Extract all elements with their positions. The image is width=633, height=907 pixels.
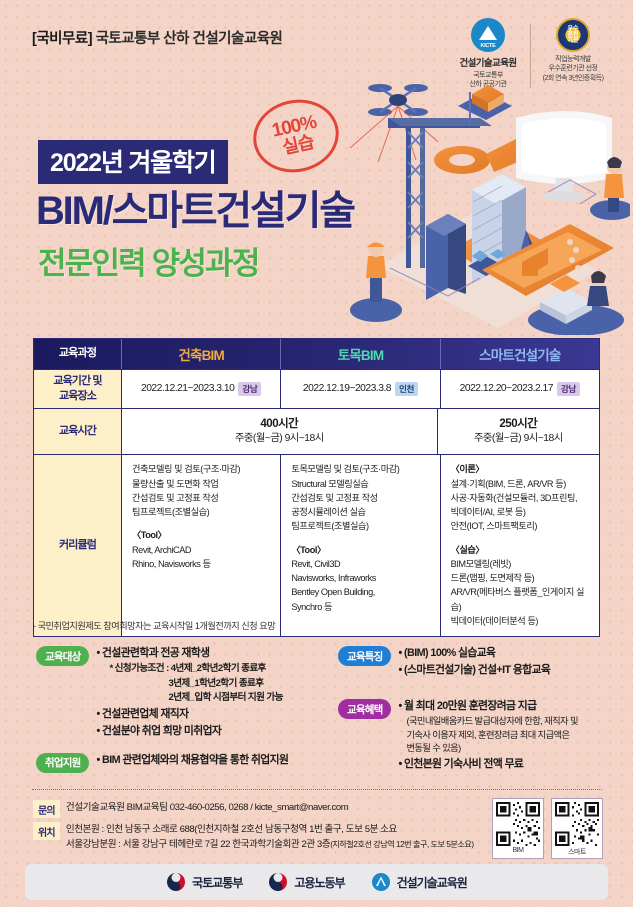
education-features-body: (BIM) 100% 실습교육 (스마트건설기술) 건설+IT 융합교육 bbox=[398, 645, 550, 678]
hours-total-smart: 250시간 bbox=[499, 416, 537, 433]
info-column-left: 교육대상 건설관련학과 전공 재학생 신청가능조건 : 4년제_2학년2학기 종… bbox=[36, 645, 336, 779]
table-col-smart-const: 스마트건설기술 bbox=[441, 339, 599, 369]
location-gangnam: 서울강남분원 : 서울 강남구 테헤란로 7길 22 한국과학기술회관 2관 3… bbox=[66, 839, 330, 850]
target-line-4: 건설관련업체 재직자 bbox=[96, 706, 282, 723]
education-benefits-body: 월 최대 20만원 훈련장려금 지급 (국민내일배움카드 발급대상자에 한함, … bbox=[398, 698, 577, 772]
qr-bim-label: BIM bbox=[496, 846, 540, 854]
hours-cell-smart: 250시간 주중(월~금) 9시~18시 bbox=[438, 409, 599, 455]
period-text-arch: 2022.12.21~2023.3.10 bbox=[141, 383, 234, 394]
pallet-box-icon bbox=[458, 85, 512, 120]
cur-smart-item-1: 사공·자동화(건설모듈러, 3D프린팅, bbox=[451, 491, 594, 505]
info-block-target: 교육대상 건설관련학과 전공 재학생 신청가능조건 : 4년제_2학년2학기 종… bbox=[36, 645, 336, 740]
table-footnote: - 국민취업지원제도 참여희망자는 교육시작일 1개월전까지 신청 요망 bbox=[33, 618, 275, 632]
cur-smart-tool-2: AR/VR(메타버스 플랫폼_인게이지 실습) bbox=[451, 585, 594, 614]
location-gangnam-detail: (지하철2호선 강남역 12번 출구, 도보 5분소요) bbox=[330, 840, 473, 849]
contact-text-inquiry: 건설기술교육원 BIM교육팀 032-460-0256, 0268 / kict… bbox=[66, 800, 348, 815]
pill-education-features: 교육특징 bbox=[338, 646, 391, 666]
section-divider bbox=[32, 789, 602, 790]
hero-title-block: 2022년 겨울학기 BIM/스마트건설기술 전문인력 양성과정 bbox=[0, 140, 633, 330]
table-row-hours: 교육시간 400시간 주중(월~금) 9시~18시 250시간 주중(월~금) … bbox=[34, 409, 599, 456]
table-col-civil-bim: 토목BIM bbox=[281, 339, 440, 369]
cur-civil-tool-0: Revit, Civil3D bbox=[291, 557, 434, 571]
period-text-civil: 2022.12.19~2023.3.8 bbox=[303, 383, 391, 394]
qr-bim-icon bbox=[496, 802, 540, 846]
period-cell-civil: 2022.12.19~2023.3.8 인천 bbox=[281, 370, 440, 408]
cur-smart-tool-1: 드론(맵핑, 도면제작 등) bbox=[451, 571, 594, 585]
target-line-0: 건설관련학과 전공 재학생 bbox=[96, 645, 282, 662]
kicte-logo-icon bbox=[371, 872, 391, 892]
pill-education-target: 교육대상 bbox=[36, 646, 89, 666]
cur-civil-tool-2: Bentley Open Building, bbox=[291, 585, 434, 599]
curriculum-civil: 토목모델링 및 검토(구조·마감) Structural 모델링실습 간섭검토 … bbox=[281, 455, 440, 636]
cur-civil-item-1: Structural 모델링실습 bbox=[291, 477, 434, 491]
job-support-line-0: BIM 관련업체와의 채용협약을 통한 취업지원 bbox=[96, 752, 288, 769]
info-block-features: 교육특징 (BIM) 100% 실습교육 (스마트건설기술) 건설+IT 융합교… bbox=[338, 645, 623, 678]
qr-smart-icon bbox=[555, 802, 599, 846]
cur-smart-item-3: 안전(IOT, 스마트팩토리) bbox=[451, 519, 594, 533]
hours-total-bim: 400시간 bbox=[260, 416, 298, 433]
qr-bim[interactable]: BIM bbox=[492, 798, 544, 859]
period-text-smart: 2022.12.20~2023.2.17 bbox=[460, 383, 553, 394]
footer-org-kicte: 건설기술교육원 bbox=[371, 872, 467, 892]
feature-line-1: (스마트건설기술) 건설+IT 융합교육 bbox=[398, 662, 550, 679]
target-line-3: 2년제_입학 시점부터 지원 가능 bbox=[168, 691, 282, 706]
cur-civil-tool-1: Navisworks, Infraworks bbox=[291, 571, 434, 585]
contact-tag-location: 위치 bbox=[33, 822, 60, 840]
contact-tag-inquiry: 문의 bbox=[33, 800, 60, 818]
education-target-body: 건설관련학과 전공 재학생 신청가능조건 : 4년제_2학년2학기 종료후 3년… bbox=[96, 645, 282, 740]
hours-cell-bim: 400시간 주중(월~금) 9시~18시 bbox=[122, 409, 438, 455]
taegeuk-icon bbox=[268, 872, 288, 892]
location-chip-arch: 강남 bbox=[238, 382, 261, 396]
benefit-line-4: 인천본원 기숙사비 전액 무료 bbox=[398, 756, 577, 773]
cur-arch-item-2: 간섭검토 및 고정표 작성 bbox=[132, 491, 275, 505]
location-chip-civil: 인천 bbox=[395, 382, 418, 396]
row-label-curriculum: 커리큘럼 bbox=[34, 455, 122, 636]
qr-code-group: BIM bbox=[492, 798, 603, 859]
table-row-curriculum: 커리큘럼 건축모델링 및 검토(구조·마감) 물량산출 및 도면화 작업 간섭검… bbox=[34, 455, 599, 636]
row-label-hours: 교육시간 bbox=[34, 409, 122, 455]
hero-subtitle: 전문인력 양성과정 bbox=[38, 238, 259, 283]
table-header-label: 교육과정 bbox=[34, 339, 122, 369]
footer-org-bar: 국토교통부 고용노동부 건설기술교육원 bbox=[25, 864, 608, 900]
footer-org-kicte-name: 건설기술교육원 bbox=[397, 874, 467, 891]
contact-row-inquiry: 문의 건설기술교육원 BIM교육팀 032-460-0256, 0268 / k… bbox=[33, 800, 483, 818]
location-chip-smart: 강남 bbox=[557, 382, 580, 396]
cur-civil-item-0: 토목모델링 및 검토(구조·마감) bbox=[291, 462, 434, 476]
kicker-line: [국비무료] 국토교통부 산하 건설기술교육원 bbox=[32, 27, 282, 48]
contact-section: 문의 건설기술교육원 BIM교육팀 032-460-0256, 0268 / k… bbox=[33, 800, 483, 857]
cur-civil-tool-title: 〈Tool〉 bbox=[291, 543, 434, 557]
info-column-right: 교육특징 (BIM) 100% 실습교육 (스마트건설기술) 건설+IT 융합교… bbox=[338, 645, 623, 778]
period-cell-arch: 2022.12.21~2023.3.10 강남 bbox=[122, 370, 281, 408]
logo-kicte-name: 건설기술교육원 bbox=[452, 55, 524, 69]
feature-line-0: (BIM) 100% 실습교육 bbox=[398, 645, 550, 662]
row-label-period: 교육기간 및교육장소 bbox=[34, 370, 122, 408]
benefit-line-2: 기숙사 이용자 제외, 훈련장려금 최대 지급액은 bbox=[406, 729, 577, 742]
target-line-2: 3년제_1학년2학기 종료후 bbox=[168, 677, 282, 692]
cur-civil-item-2: 간섭검토 및 고정표 작성 bbox=[291, 491, 434, 505]
info-block-benefits: 교육혜택 월 최대 20만원 훈련장려금 지급 (국민내일배움카드 발급대상자에… bbox=[338, 698, 623, 772]
cur-arch-item-3: 팀프로젝트(조별실습) bbox=[132, 505, 275, 519]
pill-education-benefits: 교육혜택 bbox=[338, 699, 391, 719]
pill-job-support: 취업지원 bbox=[36, 753, 89, 773]
kicker-text: 국토교통부 산하 건설기술교육원 bbox=[96, 31, 283, 47]
cur-arch-tool-0: Revit, ArchiCAD bbox=[132, 543, 275, 557]
table-row-period: 교육기간 및교육장소 2022.12.21~2023.3.10 강남 2022.… bbox=[34, 370, 599, 409]
cur-arch-item-1: 물량산출 및 도면화 작업 bbox=[132, 477, 275, 491]
qr-smart[interactable]: 스마트 bbox=[551, 798, 603, 859]
award-seal-icon: 우수훈련기관 bbox=[556, 18, 590, 52]
cur-smart-theory-title: 〈이론〉 bbox=[451, 462, 594, 476]
info-block-jobsupport: 취업지원 BIM 관련업체와의 채용협약을 통한 취업지원 bbox=[36, 752, 336, 773]
course-table: 교육과정 건축BIM 토목BIM 스마트건설기술 교육기간 및교육장소 2022… bbox=[33, 338, 600, 637]
kicte-logo-icon: KICTE bbox=[471, 18, 505, 52]
cur-arch-item-0: 건축모델링 및 검토(구조·마감) bbox=[132, 462, 275, 476]
cur-smart-tool-3: 빅데이터(데이터분석 등) bbox=[451, 614, 594, 628]
footer-org-molit: 국토교통부 bbox=[166, 872, 242, 892]
cur-smart-item-2: 빅데이터/AI, 로봇 등) bbox=[451, 505, 594, 519]
cur-civil-tool-3: Synchro 등 bbox=[291, 600, 434, 614]
benefit-line-1: (국민내일배움카드 발급대상자에 한함, 재직자 및 bbox=[406, 715, 577, 728]
table-col-arch-bim: 건축BIM bbox=[122, 339, 281, 369]
footer-org-molit-name: 국토교통부 bbox=[192, 874, 242, 891]
footer-org-moel-name: 고용노동부 bbox=[294, 874, 344, 891]
location-incheon: 인천본원 : 인천 남동구 소래로 688(인천지하철 2호선 남동구청역 1번… bbox=[66, 824, 397, 835]
period-cell-smart: 2022.12.20~2023.2.17 강남 bbox=[441, 370, 599, 408]
job-support-body: BIM 관련업체와의 채용협약을 통한 취업지원 bbox=[96, 752, 288, 769]
qr-smart-label: 스마트 bbox=[555, 846, 599, 857]
target-line-5: 건설분야 취업 희망 미취업자 bbox=[96, 723, 282, 740]
contact-row-location: 위치 인천본원 : 인천 남동구 소래로 688(인천지하철 2호선 남동구청역… bbox=[33, 822, 483, 853]
cur-civil-item-4: 팀프로젝트(조별실습) bbox=[291, 519, 434, 533]
target-line-1: 신청가능조건 : 4년제_2학년2학기 종료후 bbox=[109, 662, 282, 677]
benefit-line-3: 변동될 수 있음) bbox=[406, 742, 577, 755]
cur-smart-item-0: 설계·기획(BIM, 드론, AR/VR 등) bbox=[451, 477, 594, 491]
cur-arch-tool-1: Rhino, Navisworks 등 bbox=[132, 557, 275, 571]
curriculum-arch: 건축모델링 및 검토(구조·마감) 물량산출 및 도면화 작업 간섭검토 및 고… bbox=[122, 455, 281, 636]
cur-civil-item-3: 공정시뮬레이션 실습 bbox=[291, 505, 434, 519]
cur-smart-practice-title: 〈실습〉 bbox=[451, 543, 594, 557]
benefit-line-0: 월 최대 20만원 훈련장려금 지급 bbox=[398, 698, 577, 715]
kicker-tag: [국비무료] bbox=[32, 31, 92, 47]
hero-main-title: BIM/스마트건설기술 bbox=[36, 190, 633, 232]
stamp-label: 실습 bbox=[281, 132, 316, 158]
taegeuk-icon bbox=[166, 872, 186, 892]
hours-detail-smart: 주중(월~금) 9시~18시 bbox=[474, 432, 563, 447]
hours-detail-bim: 주중(월~금) 9시~18시 bbox=[235, 432, 324, 447]
hero-semester: 2022년 겨울학기 bbox=[38, 140, 228, 184]
cur-arch-tool-title: 〈Tool〉 bbox=[132, 528, 275, 542]
footer-org-moel: 고용노동부 bbox=[268, 872, 344, 892]
contact-text-location: 인천본원 : 인천 남동구 소래로 688(인천지하철 2호선 남동구청역 1번… bbox=[66, 822, 474, 853]
cur-smart-tool-0: BIM모델링(레빗) bbox=[451, 557, 594, 571]
table-header-row: 교육과정 건축BIM 토목BIM 스마트건설기술 bbox=[34, 339, 599, 370]
curriculum-smart: 〈이론〉 설계·기획(BIM, 드론, AR/VR 등) 사공·자동화(건설모듈… bbox=[441, 455, 599, 636]
